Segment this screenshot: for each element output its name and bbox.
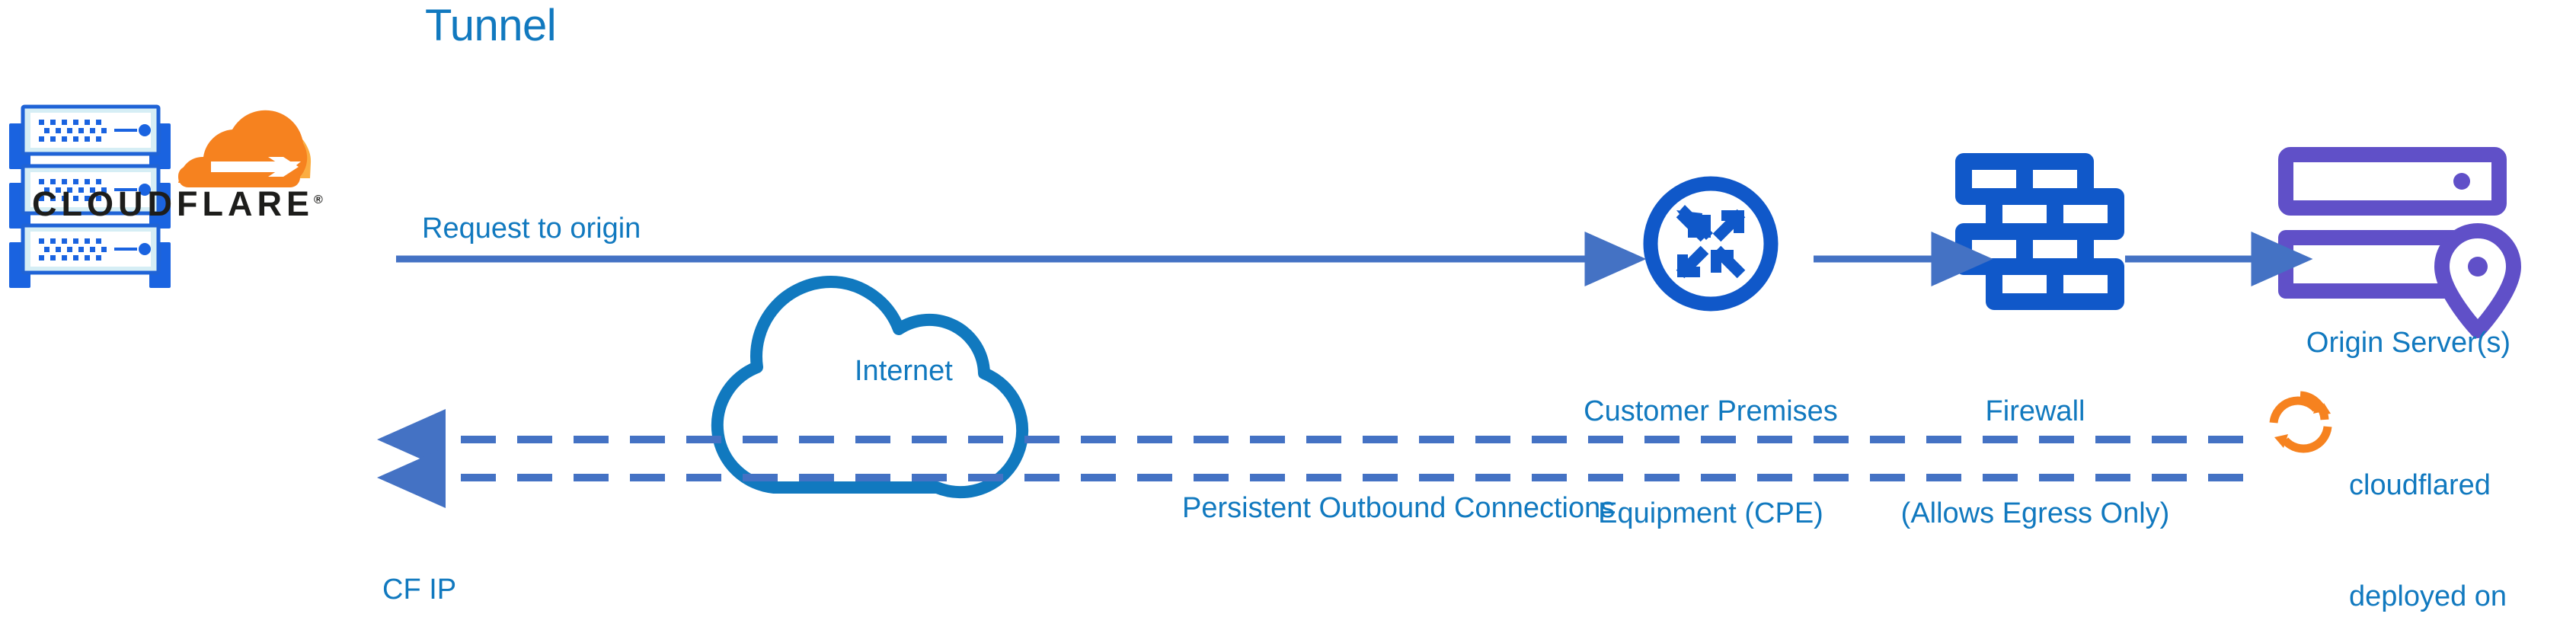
label-cpe: Customer Premises Equipment (CPE): [1551, 326, 1871, 599]
label-cloudflared-line1: cloudflared: [2349, 467, 2507, 504]
cloudflare-wordmark-label: CLOUDFLARE: [32, 184, 314, 223]
edge-server-1-icon: [9, 107, 171, 169]
edge-server-3-icon: [9, 225, 171, 288]
sync-arrows-icon: [2274, 395, 2331, 449]
router-four-arrows-icon: [1651, 184, 1771, 304]
label-cloudflared-line2: deployed on: [2349, 578, 2507, 615]
cloudflare-wordmark-text: CLOUDFLARE®: [32, 184, 328, 224]
server-location-pin-icon: [2286, 155, 2514, 331]
brick-wall-icon: [1964, 161, 2116, 302]
label-persistent-outbound-connections: Persistent Outbound Connections: [1182, 491, 1615, 526]
label-firewall-line1: Firewall: [1875, 395, 2195, 429]
registered-trademark-symbol: ®: [314, 193, 328, 206]
cloudflare-logo-icon: [178, 110, 311, 187]
label-internet: Internet: [855, 354, 953, 388]
diagram-title: Tunnel: [425, 0, 556, 52]
label-cf-ip: CF IP (Anycast): [382, 499, 504, 617]
label-origin-servers: Origin Server(s): [2241, 326, 2576, 360]
label-firewall-line2: (Allows Egress Only): [1875, 497, 2195, 531]
label-firewall: Firewall (Allows Egress Only): [1875, 326, 2195, 599]
label-request-to-origin: Request to origin: [422, 212, 641, 246]
label-cf-ip-line1: CF IP: [382, 572, 504, 609]
label-cloudflared: cloudflared deployed on servers: [2349, 393, 2507, 617]
label-cpe-line1: Customer Premises: [1551, 395, 1871, 429]
tunnel-diagram-canvas: Tunnel: [0, 0, 2576, 617]
